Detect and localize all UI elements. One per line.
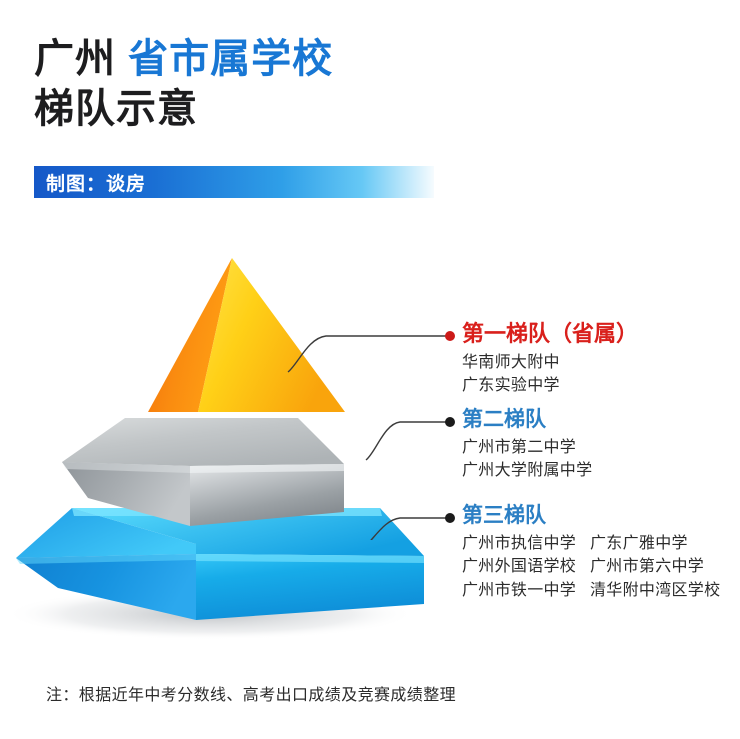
tier-group-2: 第二梯队 广州市第二中学 广州大学附属中学 [462, 407, 740, 483]
leader-dot-tier-1 [445, 331, 455, 341]
tier-3-heading: 第三梯队 [462, 503, 740, 529]
tier-group-1: 第一梯队（省属） 华南师大附中 广东实验中学 [462, 320, 740, 397]
page-title: 广州 省市属学校 梯队示意 [34, 34, 674, 134]
leader-lines [250, 300, 465, 540]
credit-text: 制图：谈房 [34, 169, 146, 196]
title-line-2: 梯队示意 [34, 84, 674, 134]
leader-dot-tier-3 [445, 513, 455, 523]
tier-3-school-row: 广州市执信中学广东广雅中学 [462, 532, 740, 555]
leader-line-tier-3 [358, 518, 446, 540]
leader-dot-tier-2 [445, 417, 455, 427]
tier-2-school-row: 广州市第二中学 [462, 436, 740, 459]
school-name: 广东广雅中学 [590, 532, 688, 555]
school-name: 广东实验中学 [462, 374, 560, 397]
school-name: 广州大学附属中学 [462, 459, 592, 482]
leader-line-tier-1 [288, 336, 446, 372]
footnote: 注：根据近年中考分数线、高考出口成绩及竞赛成绩整理 [46, 681, 456, 705]
tier-1-school-row: 广东实验中学 [462, 374, 740, 397]
title-line-1: 广州 省市属学校 [34, 34, 674, 84]
tier-2-school-row: 广州大学附属中学 [462, 459, 740, 482]
school-name: 广州市第二中学 [462, 436, 576, 459]
infographic-canvas: 广州 省市属学校 梯队示意 制图：谈房 [0, 0, 740, 739]
school-name: 广州市铁一中学 [462, 579, 590, 602]
tier-group-3: 第三梯队 广州市执信中学广东广雅中学 广州外国语学校广州市第六中学 广州市铁一中… [462, 503, 740, 602]
school-name: 广州外国语学校 [462, 555, 590, 578]
school-name: 清华附中湾区学校 [590, 579, 720, 602]
tier-3-school-row: 广州外国语学校广州市第六中学 [462, 555, 740, 578]
leader-line-tier-2 [366, 422, 446, 460]
tier-1-heading: 第一梯队（省属） [462, 320, 740, 348]
tier-1-school-row: 华南师大附中 [462, 351, 740, 374]
school-name: 华南师大附中 [462, 351, 560, 374]
school-name: 广州市第六中学 [590, 555, 704, 578]
tier-2-heading: 第二梯队 [462, 407, 740, 433]
credit-bar: 制图：谈房 [34, 166, 434, 198]
title-city: 广州 [34, 37, 116, 81]
school-name: 广州市执信中学 [462, 532, 590, 555]
title-accent-text: 省市属学校 [128, 37, 333, 81]
tier-3-school-row: 广州市铁一中学清华附中湾区学校 [462, 579, 740, 602]
